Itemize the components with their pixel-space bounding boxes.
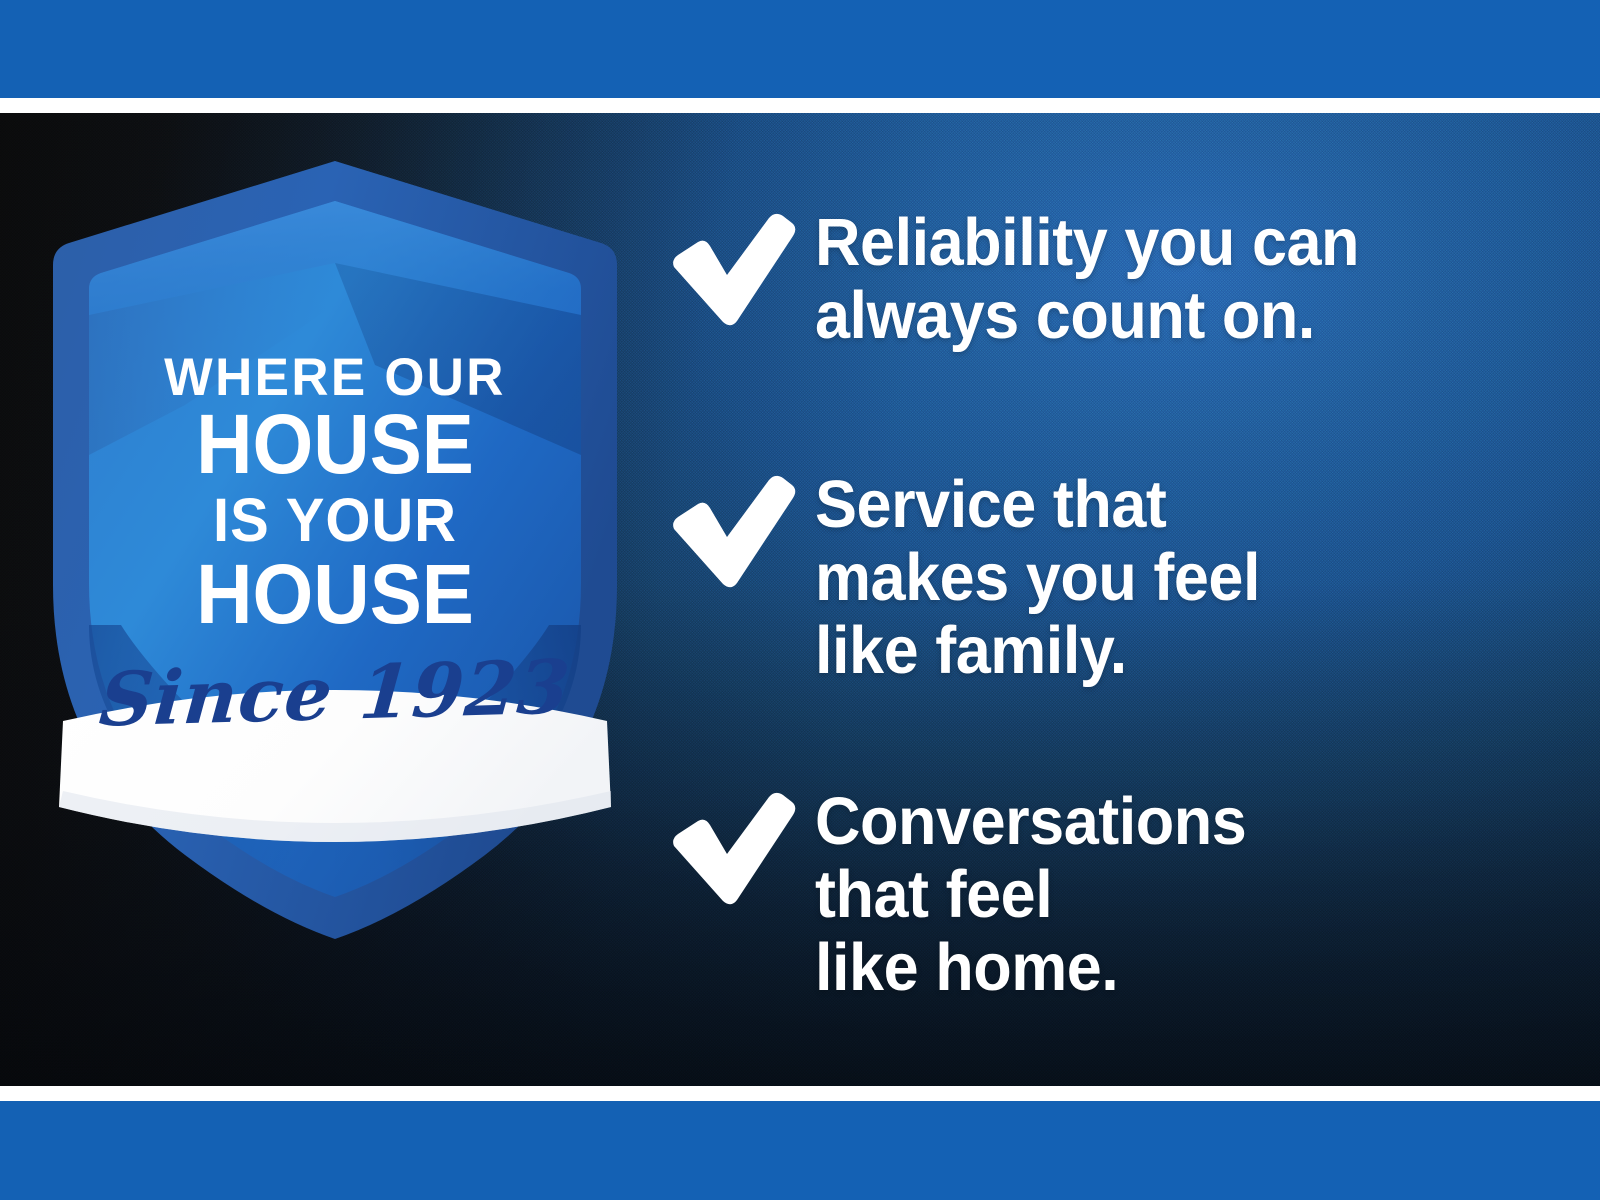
benefits-list: Reliability you can always count on. Ser… (665, 113, 1565, 1086)
check-icon (665, 785, 815, 907)
benefit-line: makes you feel (815, 541, 1260, 614)
benefit-line: always count on. (815, 279, 1359, 352)
benefit-item-conversations: Conversations that feel like home. (665, 785, 1274, 1004)
promo-poster: WHERE OUR HOUSE IS YOUR HOUSE Since 1923… (0, 0, 1600, 1200)
benefit-line: Conversations (815, 785, 1246, 858)
benefit-line: that feel (815, 858, 1246, 931)
benefit-line: like family. (815, 614, 1260, 687)
brand-bar-bottom-divider (0, 1086, 1600, 1101)
benefit-line: Service that (815, 468, 1260, 541)
benefit-text-reliability: Reliability you can always count on. (815, 206, 1359, 352)
brand-bar-bottom (0, 1101, 1600, 1200)
brand-bar-top (0, 0, 1600, 98)
check-icon (665, 468, 815, 590)
benefit-line: Reliability you can (815, 206, 1359, 279)
brand-bar-top-divider (0, 98, 1600, 113)
benefit-item-service: Service that makes you feel like family. (665, 468, 1288, 687)
check-icon (665, 206, 815, 328)
benefit-text-conversations: Conversations that feel like home. (815, 785, 1246, 1004)
benefit-line: like home. (815, 931, 1246, 1004)
benefit-text-service: Service that makes you feel like family. (815, 468, 1260, 687)
house-shield-badge: WHERE OUR HOUSE IS YOUR HOUSE Since 1923 (45, 155, 625, 945)
benefit-item-reliability: Reliability you can always count on. (665, 206, 1394, 352)
